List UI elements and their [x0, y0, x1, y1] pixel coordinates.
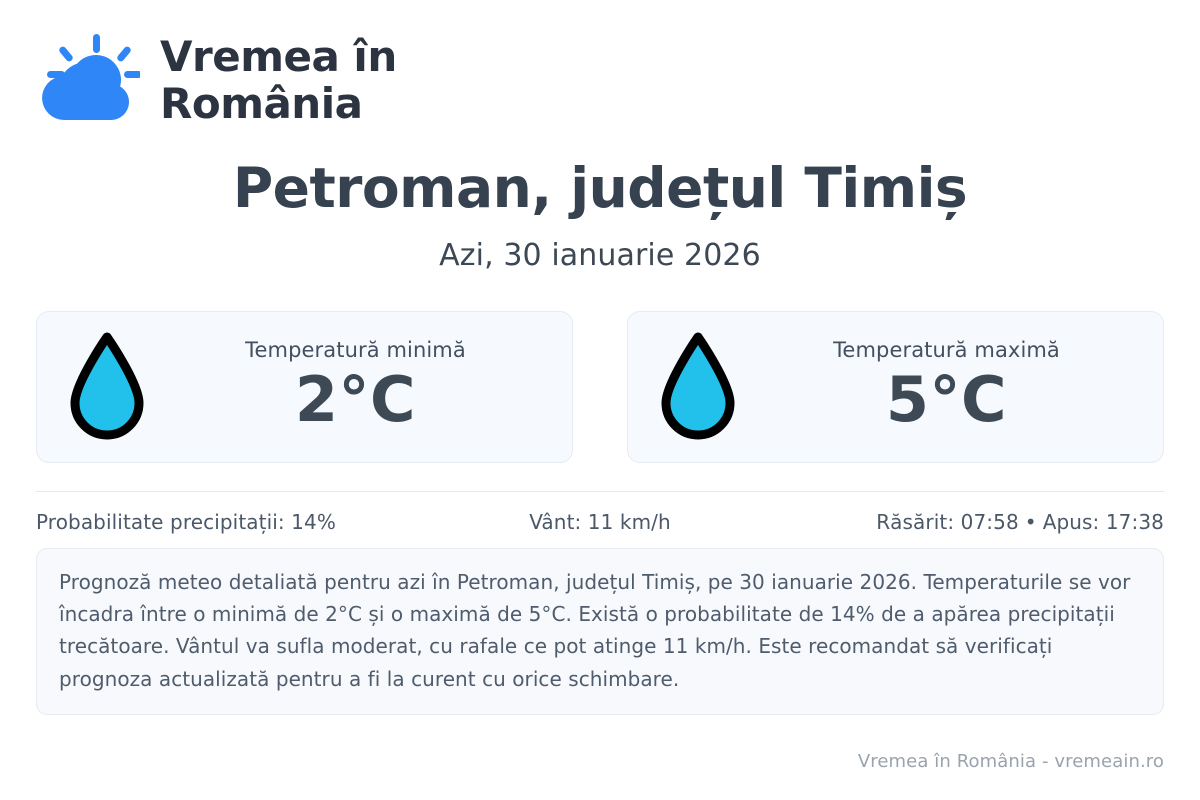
- weather-page: Vremea în România Petroman, județul Timi…: [0, 0, 1200, 800]
- page-date: Azi, 30 ianuarie 2026: [36, 238, 1164, 273]
- page-title: Petroman, județul Timiș: [36, 158, 1164, 220]
- footer-credit: Vremea în România - vremeain.ro: [858, 751, 1164, 772]
- stat-separator: •: [1019, 510, 1043, 534]
- temperature-max-label: Temperatură maximă: [762, 338, 1131, 362]
- sunset-value: Apus: 17:38: [1043, 510, 1164, 534]
- sunrise-value: Răsărit: 07:58: [876, 510, 1019, 534]
- sun-times-stat: Răsărit: 07:58•Apus: 17:38: [788, 510, 1164, 534]
- sun-behind-cloud-icon: [36, 32, 140, 128]
- temperature-min-value: 2°C: [171, 364, 540, 435]
- water-drop-icon: [656, 331, 740, 443]
- stats-row: Probabilitate precipitații: 14% Vânt: 11…: [36, 492, 1164, 548]
- forecast-description: Prognoză meteo detaliată pentru azi în P…: [36, 548, 1164, 716]
- water-drop-icon: [65, 331, 149, 443]
- brand-name: Vremea în România: [160, 33, 397, 127]
- wind-stat: Vânt: 11 km/h: [412, 510, 788, 534]
- temperature-cards: Temperatură minimă 2°C Temperatură maxim…: [36, 311, 1164, 463]
- temperature-min-text: Temperatură minimă 2°C: [171, 338, 554, 435]
- temperature-min-label: Temperatură minimă: [171, 338, 540, 362]
- temperature-max-value: 5°C: [762, 364, 1131, 435]
- site-header: Vremea în România: [36, 0, 1164, 112]
- precipitation-stat: Probabilitate precipitații: 14%: [36, 510, 412, 534]
- temperature-max-text: Temperatură maximă 5°C: [762, 338, 1145, 435]
- title-block: Petroman, județul Timiș Azi, 30 ianuarie…: [36, 158, 1164, 273]
- temperature-max-card: Temperatură maximă 5°C: [627, 311, 1164, 463]
- temperature-min-card: Temperatură minimă 2°C: [36, 311, 573, 463]
